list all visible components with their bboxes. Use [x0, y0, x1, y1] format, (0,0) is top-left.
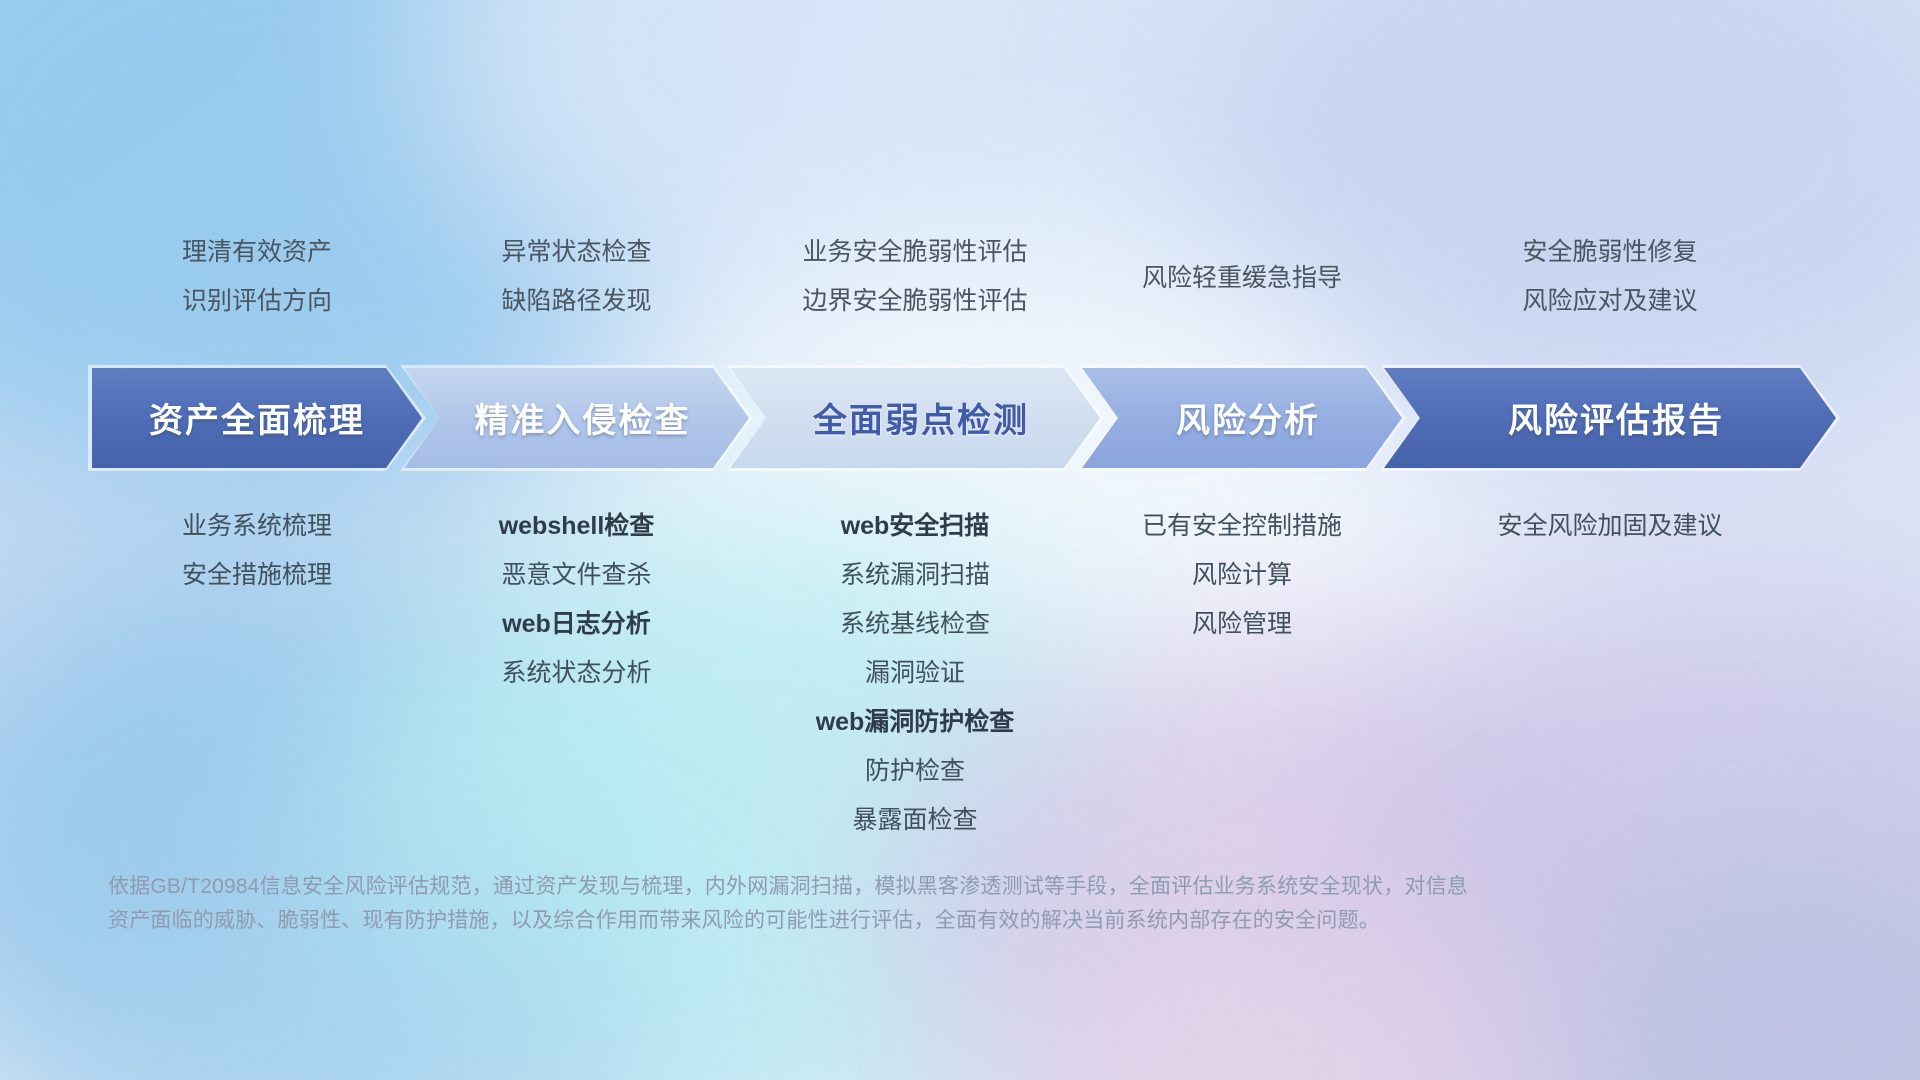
stage-item: 系统漏洞扫描 [730, 551, 1100, 600]
footer-description: 依据GB/T20984信息安全风险评估规范，通过资产发现与梳理，内外网漏洞扫描，… [108, 870, 1628, 938]
chevron-stage-risk-analysis[interactable]: 风险分析 [1082, 368, 1402, 468]
chevron-label: 资产全面梳理 [149, 393, 365, 442]
stage-top-captions: 理清有效资产识别评估方向异常状态检查缺陷路径发现业务安全脆弱性评估边界安全脆弱性… [0, 228, 1920, 318]
stage-item: 防护检查 [730, 747, 1100, 796]
process-diagram: 理清有效资产识别评估方向异常状态检查缺陷路径发现业务安全脆弱性评估边界安全脆弱性… [0, 0, 1920, 1080]
caption-line: 安全脆弱性修复 [1384, 228, 1836, 277]
stage-item: 暴露面检查 [730, 796, 1100, 845]
stage-item: 风险计算 [1082, 551, 1402, 600]
chevron-stage-asset-inventory[interactable]: 资产全面梳理 [92, 368, 422, 468]
stage-top-caption-risk-analysis: 风险轻重缓急指导 [1082, 228, 1402, 303]
stage-item: 系统状态分析 [404, 649, 749, 698]
chevron-label: 风险评估报告 [1508, 393, 1724, 442]
stage-items-intrusion-check: webshell检查恶意文件查杀web日志分析系统状态分析 [404, 502, 749, 698]
caption-line: 缺陷路径发现 [404, 277, 749, 326]
stage-items-risk-report: 安全风险加固及建议 [1384, 502, 1836, 551]
stage-items-weakness-detection: web安全扫描系统漏洞扫描系统基线检查漏洞验证web漏洞防护检查防护检查暴露面检… [730, 502, 1100, 845]
chevron-label: 精准入侵检查 [475, 393, 691, 442]
stage-top-caption-intrusion-check: 异常状态检查缺陷路径发现 [404, 228, 749, 326]
chevron-label: 风险分析 [1176, 393, 1320, 442]
footer-line-1: 依据GB/T20984信息安全风险评估规范，通过资产发现与梳理，内外网漏洞扫描，… [108, 870, 1628, 904]
caption-line: 边界安全脆弱性评估 [730, 277, 1100, 326]
stage-item: 系统基线检查 [730, 600, 1100, 649]
caption-line: 异常状态检查 [404, 228, 749, 277]
caption-line: 理清有效资产 [92, 228, 422, 277]
chevron-stage-weakness-detection[interactable]: 全面弱点检测 [730, 368, 1100, 468]
stage-item: 业务系统梳理 [92, 502, 422, 551]
caption-line: 识别评估方向 [92, 277, 422, 326]
stage-item: 恶意文件查杀 [404, 551, 749, 600]
stage-chevron-banner: 资产全面梳理精准入侵检查全面弱点检测风险分析风险评估报告 [92, 368, 1836, 468]
chevron-stage-risk-report[interactable]: 风险评估报告 [1384, 368, 1836, 468]
stage-item: 已有安全控制措施 [1082, 502, 1402, 551]
stage-top-caption-weakness-detection: 业务安全脆弱性评估边界安全脆弱性评估 [730, 228, 1100, 326]
stage-items-asset-inventory: 业务系统梳理安全措施梳理 [92, 502, 422, 600]
stage-item: 风险管理 [1082, 600, 1402, 649]
stage-item: webshell检查 [404, 502, 749, 551]
caption-line: 业务安全脆弱性评估 [730, 228, 1100, 277]
stage-item: 安全风险加固及建议 [1384, 502, 1836, 551]
stage-item: web漏洞防护检查 [730, 698, 1100, 747]
stage-item: web安全扫描 [730, 502, 1100, 551]
stage-item: web日志分析 [404, 600, 749, 649]
footer-line-2: 资产面临的威胁、脆弱性、现有防护措施，以及综合作用而带来风险的可能性进行评估，全… [108, 904, 1628, 938]
caption-line: 风险应对及建议 [1384, 277, 1836, 326]
stage-item: 安全措施梳理 [92, 551, 422, 600]
stage-item: 漏洞验证 [730, 649, 1100, 698]
chevron-stage-intrusion-check[interactable]: 精准入侵检查 [404, 368, 749, 468]
caption-line: 风险轻重缓急指导 [1082, 254, 1402, 303]
stage-top-caption-risk-report: 安全脆弱性修复风险应对及建议 [1384, 228, 1836, 326]
stage-items-risk-analysis: 已有安全控制措施风险计算风险管理 [1082, 502, 1402, 649]
chevron-label: 全面弱点检测 [813, 393, 1029, 442]
stage-top-caption-asset-inventory: 理清有效资产识别评估方向 [92, 228, 422, 326]
